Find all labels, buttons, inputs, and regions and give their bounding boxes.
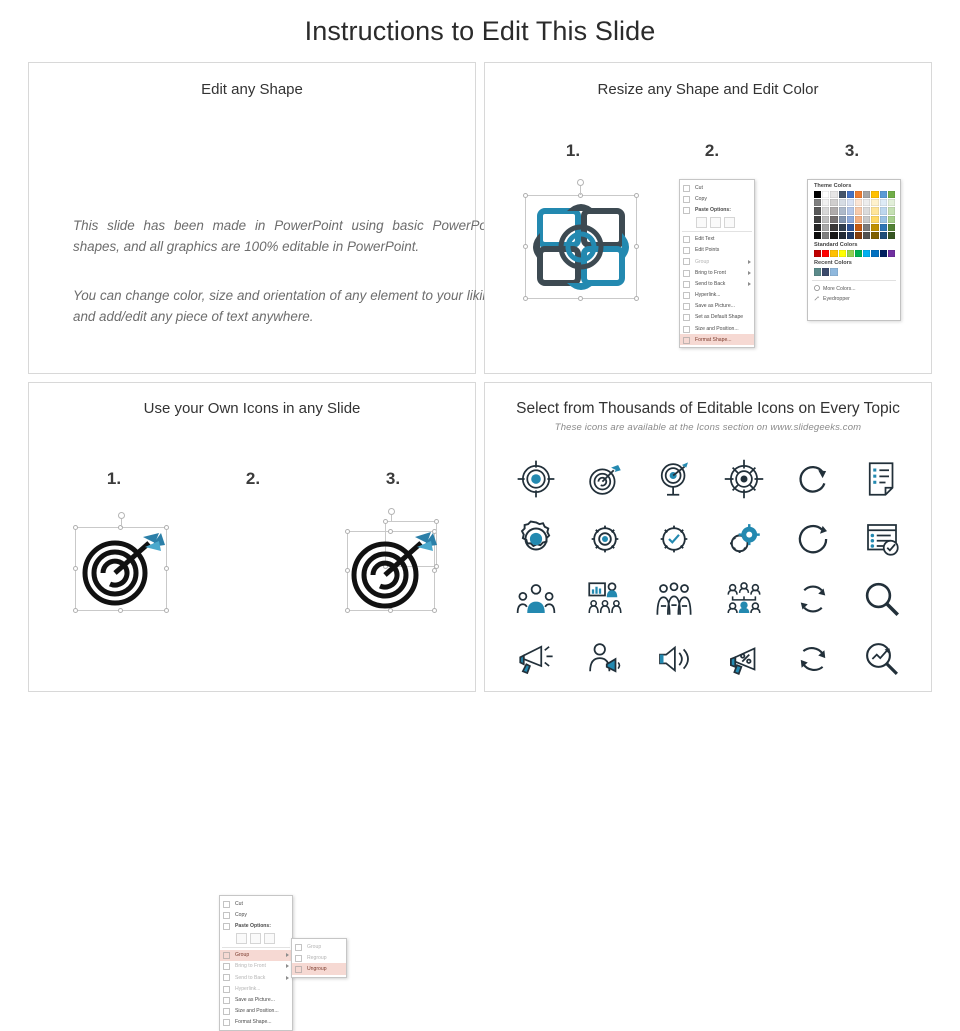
eyedropper-row[interactable]: Eyedropper (808, 293, 900, 303)
menu-item-label: Send to Back (235, 975, 265, 981)
menu-item-label: Format Shape... (695, 337, 732, 343)
team-leader-icon[interactable] (512, 575, 560, 623)
standard-color-swatch[interactable] (880, 250, 887, 257)
menu-item-label: Cut (695, 185, 703, 191)
menu-item-size-and-position[interactable]: Size and Position... (680, 323, 754, 334)
theme-color-swatch[interactable] (871, 191, 878, 198)
menu-item-label: Copy (695, 196, 707, 202)
resize-handle-w[interactable] (523, 244, 528, 249)
theme-color-swatch[interactable] (863, 199, 870, 206)
theme-color-swatch[interactable] (871, 207, 878, 214)
menu-item-icon (223, 997, 230, 1004)
shape-context-menu[interactable]: CutCopyPaste Options:Edit TextEdit Point… (679, 179, 755, 348)
checklist-window-icon[interactable] (858, 515, 906, 563)
standard-color-swatch[interactable] (847, 250, 854, 257)
theme-color-swatch[interactable] (839, 191, 846, 198)
theme-color-swatch[interactable] (888, 224, 895, 231)
theme-color-swatch[interactable] (871, 199, 878, 206)
panel-title-resize-shape: Resize any Shape and Edit Color (485, 81, 931, 98)
menu-item-icon (683, 236, 690, 243)
menu-item-group: Group (680, 256, 754, 267)
standard-color-swatch[interactable] (863, 250, 870, 257)
theme-color-swatch[interactable] (847, 207, 854, 214)
selection-frame[interactable] (525, 195, 637, 299)
submenu-item-regroup: Regroup (292, 952, 346, 963)
menu-separator (222, 947, 290, 948)
theme-color-swatch[interactable] (855, 232, 862, 239)
megaphone-icon[interactable] (512, 635, 560, 683)
menu-item-icon (223, 986, 230, 993)
theme-color-swatch[interactable] (830, 216, 837, 223)
theme-color-swatch[interactable] (855, 224, 862, 231)
menu-item-label: Save as Picture... (235, 997, 275, 1003)
target-dart-icon[interactable] (581, 455, 629, 503)
sync-arrows-icon[interactable] (789, 575, 837, 623)
resize-handle-nw[interactable] (523, 193, 528, 198)
gear-ring-icon[interactable] (581, 515, 629, 563)
chevron-right-icon (286, 953, 289, 957)
resize-handle-s[interactable] (578, 296, 583, 301)
menu-item-label: Size and Position... (695, 326, 739, 332)
crosshair-scope-icon[interactable] (720, 455, 768, 503)
menu-item-icon (223, 963, 230, 970)
menu-item-label: Set as Default Shape (695, 314, 743, 320)
menu-item-icon (683, 207, 690, 214)
recent-colors-grid[interactable] (808, 268, 900, 275)
people-group-icon[interactable] (650, 575, 698, 623)
menu-item-icon (683, 326, 690, 333)
theme-color-swatch[interactable] (871, 224, 878, 231)
menu-item-label: Edit Points (695, 247, 719, 253)
paste-options-row[interactable] (220, 932, 292, 946)
resize-handle-sw[interactable] (523, 296, 528, 301)
menu-item-edit-points[interactable]: Edit Points (680, 245, 754, 256)
chevron-right-icon (748, 282, 751, 286)
submenu-item-label: Regroup (307, 955, 327, 961)
menu-item-paste-options[interactable]: Paste Options: (220, 920, 292, 931)
menu-item-size-and-position[interactable]: Size and Position... (220, 1006, 292, 1017)
icons-step-number-1: 1. (84, 469, 144, 489)
color-picker-panel[interactable]: Theme Colors Standard Colors Recent Colo… (807, 179, 901, 321)
recent-color-swatch[interactable] (822, 268, 829, 275)
theme-color-swatch[interactable] (863, 224, 870, 231)
menu-item-label: Bring to Front (695, 270, 726, 276)
speaker-icon[interactable] (650, 635, 698, 683)
menu-item-send-to-back: Send to Back (220, 972, 292, 983)
theme-color-swatch[interactable] (830, 191, 837, 198)
menu-item-label: Edit Text (695, 236, 714, 242)
menu-item-set-as-default-shape[interactable]: Set as Default Shape (680, 312, 754, 323)
paste-picture-button[interactable] (250, 933, 261, 944)
refresh-circle-icon[interactable] (789, 515, 837, 563)
magnifier-icon[interactable] (858, 575, 906, 623)
menu-item-label: Cut (235, 901, 243, 907)
gears-pair-icon[interactable] (720, 515, 768, 563)
presentation-team-icon[interactable] (581, 575, 629, 623)
theme-color-swatch[interactable] (814, 224, 821, 231)
menu-item-label: Paste Options: (235, 923, 271, 929)
theme-color-swatch[interactable] (814, 216, 821, 223)
menu-item-label: Hyperlink... (235, 986, 260, 992)
refresh-arrow-icon[interactable] (789, 455, 837, 503)
theme-color-swatch[interactable] (855, 207, 862, 214)
theme-color-swatch[interactable] (839, 216, 846, 223)
standard-color-swatch[interactable] (814, 250, 821, 257)
checklist-document-icon[interactable] (858, 455, 906, 503)
menu-item-icon (223, 974, 230, 981)
panel-title-icon-library: Select from Thousands of Editable Icons … (485, 400, 931, 418)
chevron-right-icon (748, 260, 751, 264)
submenu-item-group: Group (292, 941, 346, 952)
theme-color-swatch[interactable] (888, 232, 895, 239)
theme-color-swatch[interactable] (822, 199, 829, 206)
resize-step-1-graphic (515, 181, 647, 313)
theme-color-swatch[interactable] (855, 199, 862, 206)
page-title: Instructions to Edit This Slide (0, 16, 960, 47)
menu-item-group[interactable]: Group (220, 950, 292, 961)
own-icons-step-1-graphic (67, 513, 177, 623)
theme-color-swatch[interactable] (839, 224, 846, 231)
menu-separator (682, 231, 752, 232)
icons-step-number-2: 2. (223, 469, 283, 489)
icon-library-grid (501, 449, 917, 689)
theme-color-swatch[interactable] (888, 199, 895, 206)
theme-color-swatch[interactable] (847, 232, 854, 239)
gear-solid-icon[interactable] (512, 515, 560, 563)
theme-color-swatch[interactable] (863, 232, 870, 239)
menu-item-icon (223, 1019, 230, 1026)
menu-item-label: Bring to Front (235, 963, 266, 969)
theme-color-swatch[interactable] (830, 199, 837, 206)
theme-color-swatch[interactable] (822, 207, 829, 214)
panel-title-edit-shape: Edit any Shape (29, 81, 475, 98)
menu-item-cut[interactable]: Cut (220, 898, 292, 909)
resize-handle-se[interactable] (634, 296, 639, 301)
menu-item-label: Save as Picture... (695, 303, 735, 309)
menu-item-icon (683, 337, 690, 344)
org-chart-icon[interactable] (720, 575, 768, 623)
recent-colors-label: Recent Colors (808, 257, 900, 268)
theme-color-swatch[interactable] (888, 216, 895, 223)
theme-color-swatch[interactable] (855, 216, 862, 223)
theme-colors-grid[interactable] (808, 191, 900, 239)
standard-colors-grid[interactable] (808, 250, 900, 257)
theme-color-swatch[interactable] (830, 207, 837, 214)
menu-item-icon (223, 912, 230, 919)
menu-item-icon (683, 270, 690, 277)
menu-item-icon (683, 303, 690, 310)
menu-item-copy[interactable]: Copy (680, 193, 754, 204)
resize-step-number-2: 2. (682, 141, 742, 161)
menu-item-save-as-picture[interactable]: Save as Picture... (680, 301, 754, 312)
megaphone-percent-icon[interactable] (720, 635, 768, 683)
menu-item-icon (223, 901, 230, 908)
group-submenu[interactable]: GroupRegroupUngroup (291, 938, 347, 978)
menu-item-icon (683, 258, 690, 265)
resize-step-number-3: 3. (822, 141, 882, 161)
eyedropper-label: Eyedropper (823, 296, 850, 302)
theme-color-swatch[interactable] (839, 199, 846, 206)
menu-item-send-to-back[interactable]: Send to Back (680, 278, 754, 289)
target-dart-icon (67, 513, 177, 623)
menu-item-icon (683, 196, 690, 203)
menu-item-hyperlink: Hyperlink... (220, 983, 292, 994)
menu-item-label: Hyperlink... (695, 292, 720, 298)
panel-resize-shape-edit-color: Resize any Shape and Edit Color 1. 2. 3. (484, 62, 932, 374)
icons-step-number-3: 3. (363, 469, 423, 489)
menu-item-hyperlink[interactable]: Hyperlink... (680, 290, 754, 301)
gear-check-icon[interactable] (650, 515, 698, 563)
palette-icon (814, 285, 820, 293)
recent-color-swatch[interactable] (814, 268, 821, 275)
theme-color-swatch[interactable] (822, 191, 829, 198)
theme-color-swatch[interactable] (847, 199, 854, 206)
submenu-item-label: Ungroup (307, 966, 327, 972)
menu-item-edit-text[interactable]: Edit Text (680, 234, 754, 245)
slide-canvas: Instructions to Edit This Slide Edit any… (0, 0, 960, 720)
menu-item-label: Size and Position... (235, 1008, 279, 1014)
menu-item-label: Format Shape... (235, 1019, 272, 1025)
chevron-right-icon (748, 271, 751, 275)
theme-color-swatch[interactable] (814, 207, 821, 214)
menu-item-icon (683, 247, 690, 254)
menu-item-icon (295, 944, 302, 951)
theme-color-swatch[interactable] (822, 216, 829, 223)
chevron-right-icon (286, 964, 289, 968)
own-icons-step-3-graphic (337, 513, 449, 623)
paste-options-row[interactable] (680, 216, 754, 230)
standard-colors-label: Standard Colors (808, 239, 900, 250)
standard-color-swatch[interactable] (822, 250, 829, 257)
theme-color-swatch[interactable] (822, 232, 829, 239)
crosshair-target-icon[interactable] (512, 455, 560, 503)
theme-color-swatch[interactable] (847, 224, 854, 231)
theme-color-swatch[interactable] (880, 216, 887, 223)
paste-text-only-button[interactable] (264, 933, 275, 944)
theme-color-swatch[interactable] (814, 191, 821, 198)
rotation-handle[interactable] (577, 179, 584, 186)
recent-color-swatch[interactable] (830, 268, 837, 275)
submenu-item-label: Group (307, 944, 321, 950)
theme-color-swatch[interactable] (880, 191, 887, 198)
standard-color-swatch[interactable] (888, 250, 895, 257)
theme-color-swatch[interactable] (863, 191, 870, 198)
edit-shape-paragraph-1: This slide has been made in PowerPoint u… (73, 215, 501, 257)
chevron-right-icon (286, 976, 289, 980)
menu-item-label: Group (695, 259, 709, 265)
edit-shape-paragraph-2: You can change color, size and orientati… (73, 285, 501, 327)
theme-color-swatch[interactable] (847, 191, 854, 198)
paste-picture-button[interactable] (710, 217, 721, 228)
person-megaphone-icon[interactable] (581, 635, 629, 683)
menu-item-icon (223, 1008, 230, 1015)
menu-item-icon (223, 923, 230, 930)
theme-colors-label: Theme Colors (808, 180, 900, 191)
theme-color-swatch[interactable] (863, 207, 870, 214)
menu-item-copy[interactable]: Copy (220, 909, 292, 920)
menu-item-label: Group (235, 952, 249, 958)
theme-color-swatch[interactable] (871, 216, 878, 223)
theme-color-swatch[interactable] (839, 207, 846, 214)
theme-color-swatch[interactable] (814, 199, 821, 206)
theme-color-swatch[interactable] (855, 191, 862, 198)
more-colors-label: More Colors... (823, 286, 856, 292)
menu-item-icon (295, 955, 302, 962)
menu-item-icon (683, 314, 690, 321)
standard-color-swatch[interactable] (871, 250, 878, 257)
theme-color-swatch[interactable] (839, 232, 846, 239)
more-colors-row[interactable]: More Colors... (808, 283, 900, 293)
resize-step-number-1: 1. (543, 141, 603, 161)
menu-item-icon (223, 952, 230, 959)
icon-library-subtitle: These icons are available at the Icons s… (485, 422, 931, 433)
standard-color-swatch[interactable] (830, 250, 837, 257)
theme-color-swatch[interactable] (814, 232, 821, 239)
eyedropper-icon (814, 295, 820, 303)
panel-use-own-icons: Use your Own Icons in any Slide 1. 2. 3. (28, 382, 476, 692)
menu-item-bring-to-front[interactable]: Bring to Front (680, 267, 754, 278)
menu-item-label: Copy (235, 912, 247, 918)
resize-handle-e[interactable] (634, 244, 639, 249)
menu-item-paste-options[interactable]: Paste Options: (680, 204, 754, 215)
panel-icon-library: Select from Thousands of Editable Icons … (484, 382, 932, 692)
panel-edit-any-shape: Edit any Shape This slide has been made … (28, 62, 476, 374)
menu-item-format-shape[interactable]: Format Shape... (220, 1017, 292, 1028)
paste-keep-formatting-button[interactable] (696, 217, 707, 228)
menu-item-label: Send to Back (695, 281, 725, 287)
theme-color-swatch[interactable] (822, 224, 829, 231)
menu-item-icon (683, 185, 690, 192)
target-dart-icon (337, 513, 449, 623)
resize-handle-ne[interactable] (634, 193, 639, 198)
theme-color-swatch[interactable] (863, 216, 870, 223)
target-stand-icon[interactable] (650, 455, 698, 503)
rotation-stem (580, 185, 581, 195)
menu-item-icon (683, 281, 690, 288)
theme-color-swatch[interactable] (847, 216, 854, 223)
theme-color-swatch[interactable] (880, 199, 887, 206)
paste-text-only-button[interactable] (724, 217, 735, 228)
menu-item-bring-to-front: Bring to Front (220, 961, 292, 972)
menu-item-cut[interactable]: Cut (680, 182, 754, 193)
paste-keep-formatting-button[interactable] (236, 933, 247, 944)
magnifier-target-icon[interactable] (858, 635, 906, 683)
theme-color-swatch[interactable] (880, 232, 887, 239)
theme-color-swatch[interactable] (880, 224, 887, 231)
menu-item-format-shape[interactable]: Format Shape... (680, 334, 754, 345)
theme-color-swatch[interactable] (880, 207, 887, 214)
panel-title-own-icons: Use your Own Icons in any Slide (29, 400, 475, 417)
menu-item-label: Paste Options: (695, 207, 731, 213)
theme-color-swatch[interactable] (888, 207, 895, 214)
group-context-menu[interactable]: CutCopyPaste Options:GroupBring to Front… (219, 895, 293, 1031)
theme-color-swatch[interactable] (871, 232, 878, 239)
standard-color-swatch[interactable] (839, 250, 846, 257)
theme-color-swatch[interactable] (888, 191, 895, 198)
submenu-item-ungroup[interactable]: Ungroup (292, 963, 346, 974)
theme-color-swatch[interactable] (830, 232, 837, 239)
menu-item-icon (295, 966, 302, 973)
menu-item-save-as-picture[interactable]: Save as Picture... (220, 994, 292, 1005)
refresh-triangle-icon[interactable] (789, 635, 837, 683)
standard-color-swatch[interactable] (855, 250, 862, 257)
menu-item-icon (683, 292, 690, 299)
theme-color-swatch[interactable] (830, 224, 837, 231)
